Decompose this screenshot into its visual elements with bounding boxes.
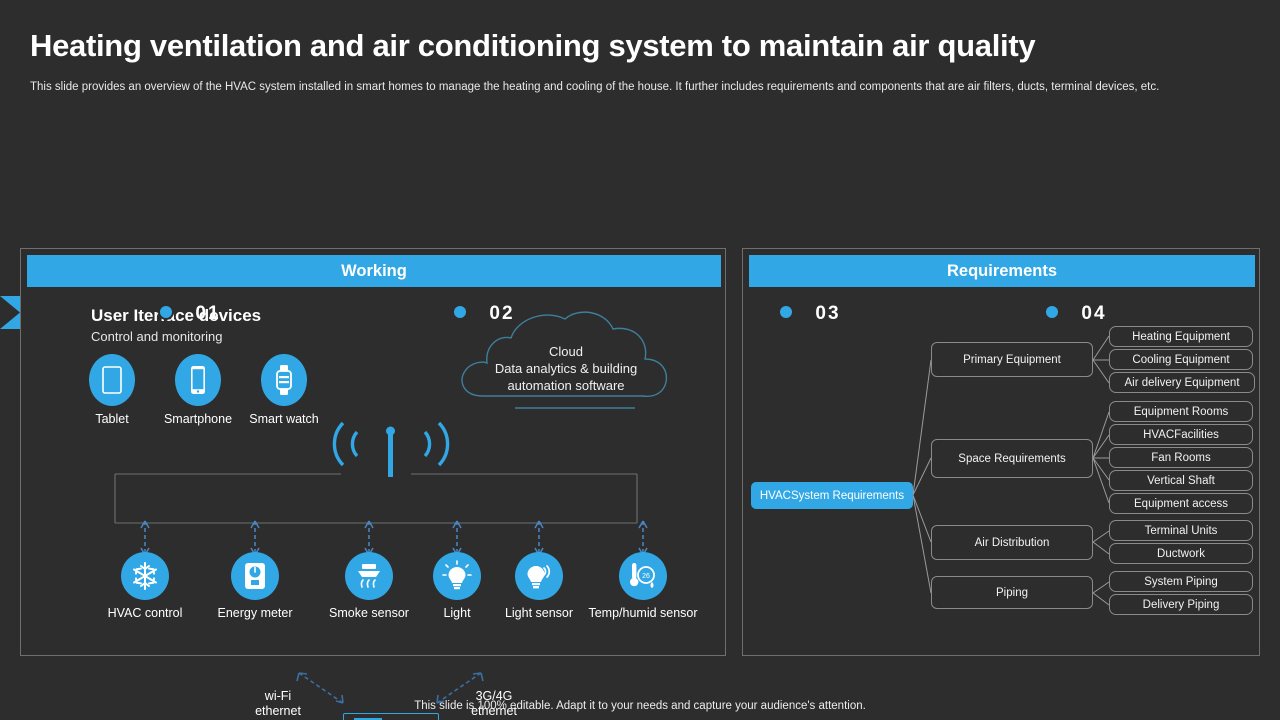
tree-leaf-label: Terminal Units: [1145, 525, 1218, 537]
sensor-temp-humid[interactable]: 26 Temp/humid sensor: [619, 552, 667, 600]
antenna-signal-icon: [331, 417, 451, 479]
svg-text:26: 26: [642, 573, 650, 580]
working-panel-header: Working: [27, 255, 721, 287]
device-label: Smartphone: [164, 412, 232, 426]
page-subtitle: This slide provides an overview of the H…: [30, 81, 1159, 93]
tree-leaf-vertical-shaft[interactable]: Vertical Shaft: [1109, 470, 1253, 491]
tree-leaf-delivery-piping[interactable]: Delivery Piping: [1109, 594, 1253, 615]
thermometer-icon: 26: [619, 552, 667, 600]
energy-meter-icon: [231, 552, 279, 600]
tree-branch-label: Space Requirements: [958, 453, 1065, 465]
cloud-line-2: Data analytics & building: [453, 360, 679, 377]
tree-branch-primary-equipment[interactable]: Primary Equipment: [931, 342, 1093, 377]
step-dot-icon: [778, 304, 794, 320]
tree-branch-label: Piping: [996, 587, 1028, 599]
sensor-label: Light: [443, 606, 470, 621]
tree-leaf-label: HVACFacilities: [1143, 429, 1219, 441]
tree-leaf-fan-rooms[interactable]: Fan Rooms: [1109, 447, 1253, 468]
tree-leaf-label: Equipment access: [1134, 498, 1228, 510]
tree-leaf-system-piping[interactable]: System Piping: [1109, 571, 1253, 592]
tree-leaf-label: Fan Rooms: [1151, 452, 1210, 464]
smoke-sensor-icon: [345, 552, 393, 600]
tree-leaf-hvac-facilities[interactable]: HVACFacilities: [1109, 424, 1253, 445]
working-panel: Working User Iterface devices Control an…: [20, 248, 726, 656]
step-number: 01: [195, 303, 220, 325]
sensor-label: Temp/humid sensor: [588, 606, 697, 621]
tree-leaf-air-delivery-equipment[interactable]: Air delivery Equipment: [1109, 372, 1255, 393]
tree-leaf-label: Air delivery Equipment: [1124, 377, 1239, 389]
sensor-label: Smoke sensor: [329, 606, 409, 621]
tablet-icon: [89, 354, 135, 406]
page-title: Heating ventilation and air conditioning…: [30, 28, 1035, 64]
device-smartphone[interactable]: Smartphone: [175, 354, 221, 406]
tree-branch-piping[interactable]: Piping: [931, 576, 1093, 609]
step-number: 04: [1081, 303, 1106, 325]
tree-branch-label: Air Distribution: [975, 537, 1050, 549]
smartwatch-icon: [261, 354, 307, 406]
footer-note: This slide is 100% editable. Adapt it to…: [0, 700, 1280, 712]
light-sensor-icon: [515, 552, 563, 600]
sensor-light-sensor[interactable]: Light sensor: [515, 552, 563, 600]
tree-branch-label: Primary Equipment: [963, 354, 1061, 366]
tree-leaf-label: Ductwork: [1157, 548, 1205, 560]
device-label: Tablet: [95, 412, 128, 426]
step-dot-icon: [158, 304, 174, 320]
tree-leaf-label: Equipment Rooms: [1134, 406, 1229, 418]
steps-strip: HVAC 01 System that automatically adjust…: [0, 140, 1280, 220]
cloud-line-1: Cloud: [453, 343, 679, 360]
step-number: 03: [815, 303, 840, 325]
tree-leaf-label: Vertical Shaft: [1147, 475, 1215, 487]
tree-leaf-label: Delivery Piping: [1143, 599, 1220, 611]
step-number: 02: [489, 303, 514, 325]
cloud-line-3: automation software: [453, 377, 679, 394]
tree-root-node[interactable]: HVACSystem Requirements: [751, 482, 913, 509]
tree-branch-space-requirements[interactable]: Space Requirements: [931, 439, 1093, 478]
cloud-text: Cloud Data analytics & building automati…: [453, 343, 679, 394]
device-smartwatch[interactable]: Smart watch: [261, 354, 307, 406]
tree-leaf-equipment-access[interactable]: Equipment access: [1109, 493, 1253, 514]
tree-branch-air-distribution[interactable]: Air Distribution: [931, 525, 1093, 560]
sensor-light[interactable]: Light: [433, 552, 481, 600]
slide-root: Heating ventilation and air conditioning…: [0, 0, 1280, 720]
tree-leaf-label: Cooling Equipment: [1132, 354, 1229, 366]
smartphone-icon: [175, 354, 221, 406]
sensor-smoke[interactable]: Smoke sensor: [345, 552, 393, 600]
tree-leaf-equipment-rooms[interactable]: Equipment Rooms: [1109, 401, 1253, 422]
tree-leaf-cooling-equipment[interactable]: Cooling Equipment: [1109, 349, 1253, 370]
device-tablet[interactable]: Tablet: [89, 354, 135, 406]
step-dot-icon: [452, 304, 468, 320]
lightbulb-icon: [433, 552, 481, 600]
tree-root-label: HVACSystem Requirements: [760, 490, 904, 502]
sensor-label: Energy meter: [217, 606, 292, 621]
tree-leaf-ductwork[interactable]: Ductwork: [1109, 543, 1253, 564]
sensor-label: Light sensor: [505, 606, 573, 621]
sensor-label: HVAC control: [108, 606, 183, 621]
device-label: Smart watch: [249, 412, 318, 426]
tree-leaf-label: System Piping: [1144, 576, 1218, 588]
sensor-energy-meter[interactable]: Energy meter: [231, 552, 279, 600]
sensor-hvac-control[interactable]: HVAC control: [121, 552, 169, 600]
tree-leaf-terminal-units[interactable]: Terminal Units: [1109, 520, 1253, 541]
snowflake-icon: [121, 552, 169, 600]
working-panel-title: Working: [341, 262, 407, 281]
step-dot-icon: [1044, 304, 1060, 320]
iot-gateway-box: [343, 713, 439, 720]
